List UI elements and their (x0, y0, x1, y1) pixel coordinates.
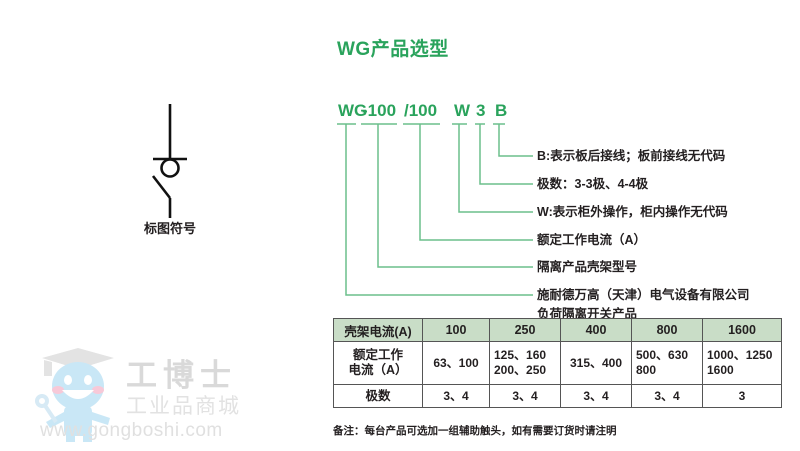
cell-line: 500、630 (636, 348, 698, 363)
symbol-caption: 标图符号 (80, 218, 260, 237)
load-isolating-switch-symbol-icon (80, 100, 260, 220)
cell-rated-100: 63、100 (423, 342, 490, 385)
legend-item-manufacturer: 施耐德万高（天津）电气设备有限公司 (537, 288, 750, 302)
spec-table: 壳架电流(A) 100 250 400 800 1600 额定工作 电流（A） … (333, 318, 782, 408)
legend-item-frame-model: 隔离产品壳架型号 (537, 260, 637, 274)
row-label-rated-current: 额定工作 电流（A） (334, 342, 423, 385)
row-label-line1: 额定工作 (334, 348, 422, 363)
cell-poles-800: 3、4 (632, 385, 703, 408)
cell-rated-400: 315、400 (561, 342, 632, 385)
cell-rated-1600: 1000、1250 1600 (703, 342, 782, 385)
cell-poles-100: 3、4 (423, 385, 490, 408)
table-row-poles: 极数 3、4 3、4 3、4 3、4 3 (334, 385, 782, 408)
table-row-rated-current: 额定工作 电流（A） 63、100 125、160 200、250 315、40… (334, 342, 782, 385)
legend-item-poles: 极数：3-3极、4-4极 (537, 177, 648, 191)
legend-item-rated-current: 额定工作电流（A） (537, 233, 646, 247)
cell-line: 1600 (707, 363, 777, 378)
page-title: WG产品选型 (337, 34, 449, 61)
header-1600: 1600 (703, 319, 782, 342)
cell-poles-400: 3、4 (561, 385, 632, 408)
cell-line: 125、160 (494, 348, 556, 363)
mascot-icon (30, 342, 130, 442)
cell-poles-250: 3、4 (490, 385, 561, 408)
symbol-block: 标图符号 (80, 100, 260, 245)
legend-item-suffix-w: W:表示柜外操作，柜内操作无代码 (537, 205, 728, 219)
cell-line: 1000、1250 (707, 348, 777, 363)
cell-line: 63、100 (427, 356, 485, 371)
watermark-tagline: 工业品商城 (126, 390, 241, 420)
row-label-poles: 极数 (334, 385, 423, 408)
cell-line: 315、400 (565, 356, 627, 371)
header-frame-current: 壳架电流(A) (334, 319, 423, 342)
watermark: 工博士 工业品商城 www.gongboshi.com (22, 340, 312, 448)
table-header-row: 壳架电流(A) 100 250 400 800 1600 (334, 319, 782, 342)
cell-line: 200、250 (494, 363, 556, 378)
header-800: 800 (632, 319, 703, 342)
watermark-brand: 工博士 (126, 350, 237, 395)
cell-rated-800: 500、630 800 (632, 342, 703, 385)
spec-table-wrapper: 壳架电流(A) 100 250 400 800 1600 额定工作 电流（A） … (333, 318, 782, 408)
model-code-breakdown: WG -100 /100 W 3 B (330, 100, 800, 305)
cell-poles-1600: 3 (703, 385, 782, 408)
table-note: 备注：每台产品可选加一组辅助触头，如有需要订货时请注明 (333, 423, 617, 438)
legend-list: B:表示板后接线；板前接线无代码 极数：3-3极、4-4极 W:表示柜外操作，柜… (330, 100, 800, 305)
header-100: 100 (423, 319, 490, 342)
header-400: 400 (561, 319, 632, 342)
product-selection-diagram-page: WG产品选型 标图符号 WG -100 /100 W 3 B (0, 0, 800, 451)
cell-rated-250: 125、160 200、250 (490, 342, 561, 385)
row-label-line2: 电流（A） (334, 363, 422, 378)
header-250: 250 (490, 319, 561, 342)
watermark-url: www.gongboshi.com (40, 420, 223, 442)
legend-item-suffix-b: B:表示板后接线；板前接线无代码 (537, 149, 725, 163)
cell-line: 800 (636, 363, 698, 378)
